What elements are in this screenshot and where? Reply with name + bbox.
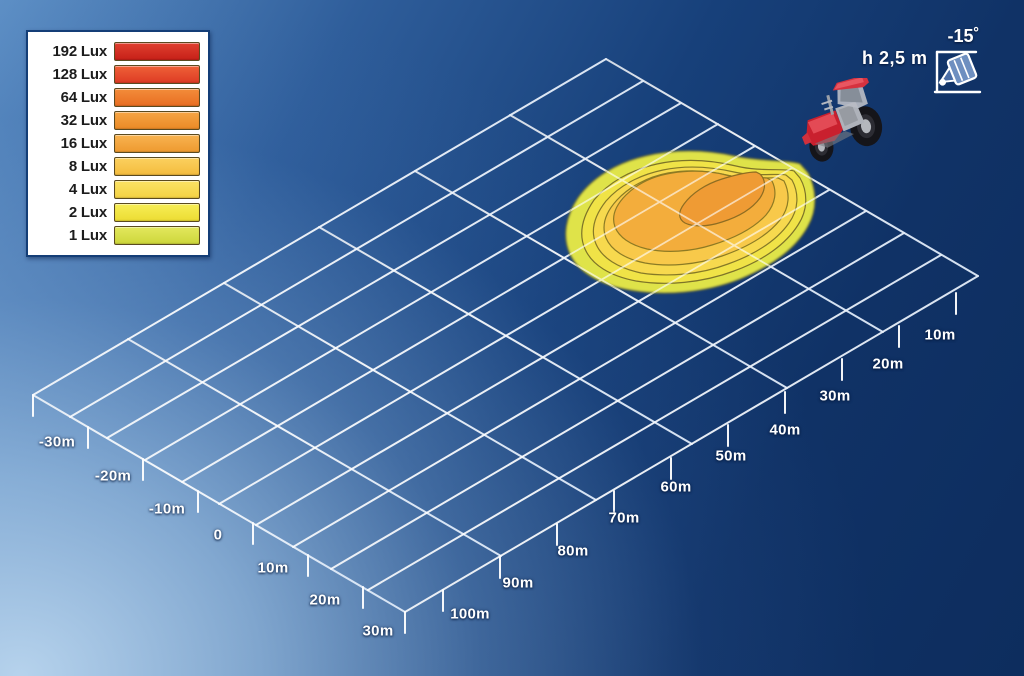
legend-label-192: 192 Lux [33,43,107,60]
legend-swatch-128 [114,65,200,84]
legend-swatch-2 [114,203,200,222]
legend-label-16: 16 Lux [33,135,107,152]
legend-swatch-32 [114,111,200,130]
legend-label-2: 2 Lux [33,204,107,221]
legend-row: 2 Lux [32,202,200,223]
legend-label-4: 4 Lux [33,181,107,198]
tilt-angle-block: -15˚ [930,30,988,102]
legend-label-128: 128 Lux [33,66,107,83]
legend-swatch-8 [114,157,200,176]
legend-swatch-4 [114,180,200,199]
legend-label-32: 32 Lux [33,112,107,129]
legend-row: 4 Lux [32,179,200,200]
legend-row: 64 Lux [32,87,200,108]
legend-label-1: 1 Lux [33,227,107,244]
diagram-canvas: -30m -20m -10m 0 10m 20m 30m 100m 90m 80… [0,0,1024,676]
legend-swatch-64 [114,88,200,107]
legend-label-64: 64 Lux [33,89,107,106]
mounting-annotation: h 2,5 m -15˚ [862,30,988,102]
tilt-angle-label: -15˚ [948,26,980,47]
legend-swatch-192 [114,42,200,61]
mounting-height-label: h 2,5 m [862,48,928,69]
legend-swatch-16 [114,134,200,153]
legend-swatch-1 [114,226,200,245]
legend-row: 1 Lux [32,225,200,246]
lux-legend: 192 Lux 128 Lux 64 Lux 32 Lux 16 Lux 8 L… [26,30,210,257]
legend-row: 32 Lux [32,110,200,131]
tractor-exhaust [826,95,834,115]
legend-row: 128 Lux [32,64,200,85]
legend-label-8: 8 Lux [33,158,107,175]
legend-row: 192 Lux [32,41,200,62]
work-lamp-icon [930,48,988,102]
legend-row: 8 Lux [32,156,200,177]
legend-row: 16 Lux [32,133,200,154]
